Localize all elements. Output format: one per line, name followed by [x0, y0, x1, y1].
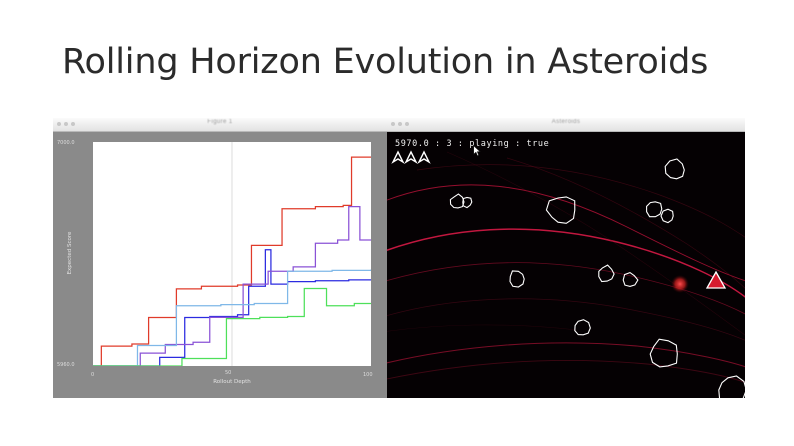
asteroid [719, 376, 745, 398]
plot-window-title: Figure 1 [53, 119, 387, 125]
trajectory-trail [387, 263, 745, 316]
y-axis-label: Expected Score [67, 218, 73, 288]
bullet-glow [671, 275, 689, 293]
asteroid [665, 159, 684, 179]
x-axis-tick-100: 100 [363, 372, 373, 378]
game-window-title: Asteroids [387, 119, 745, 125]
trajectory-trail [507, 158, 745, 292]
game-window[interactable]: Asteroids 5970.0 : 3 : playing : true [387, 118, 745, 398]
trajectory-trail [387, 325, 577, 332]
player-ship [707, 272, 725, 288]
y-axis-tick-min: 5960.0 [57, 362, 75, 368]
plot-axes-area [93, 142, 371, 366]
player-ship-group [671, 272, 725, 293]
asteroids-scene-svg [387, 132, 745, 398]
asteroid [510, 271, 524, 287]
game-window-titlebar[interactable]: Asteroids [387, 118, 745, 132]
asteroid [450, 194, 464, 208]
asteroid [546, 197, 574, 223]
plot-window[interactable]: Figure 1 7000.0 5960.0 0 50 100 Rollout … [53, 118, 387, 398]
plot-window-titlebar[interactable]: Figure 1 [53, 118, 387, 132]
trajectory-trails-group [387, 152, 745, 384]
asteroid [650, 339, 677, 367]
lives-indicator-group [393, 152, 429, 162]
trajectory-trail [387, 361, 745, 384]
plot-figure-body: 7000.0 5960.0 0 50 100 Rollout Depth Exp… [53, 132, 387, 398]
trajectory-trail [387, 343, 745, 368]
life-ship-icon [406, 152, 416, 162]
asteroid [575, 320, 591, 335]
life-ship-icon [393, 152, 403, 162]
x-axis-label: Rollout Depth [93, 379, 371, 385]
x-axis-tick-0: 0 [91, 372, 94, 378]
asteroids-game-canvas[interactable]: 5970.0 : 3 : playing : true [387, 132, 745, 398]
y-axis-tick-max: 7000.0 [57, 140, 75, 146]
hud-status-text: 5970.0 : 3 : playing : true [395, 139, 549, 149]
asteroid [599, 265, 614, 281]
asteroid [661, 209, 673, 222]
asteroid [623, 273, 638, 287]
asteroids-group [450, 159, 745, 398]
life-ship-icon [419, 152, 429, 162]
asteroid [647, 202, 662, 217]
trajectory-trail [387, 229, 745, 300]
line-chart-svg [93, 142, 371, 366]
x-axis-tick-50: 50 [225, 370, 231, 376]
trajectory-trail [387, 299, 745, 342]
page-title: Rolling Horizon Evolution in Asteroids [62, 42, 708, 82]
trajectory-trail [447, 152, 745, 338]
trajectory-trail [417, 165, 745, 240]
